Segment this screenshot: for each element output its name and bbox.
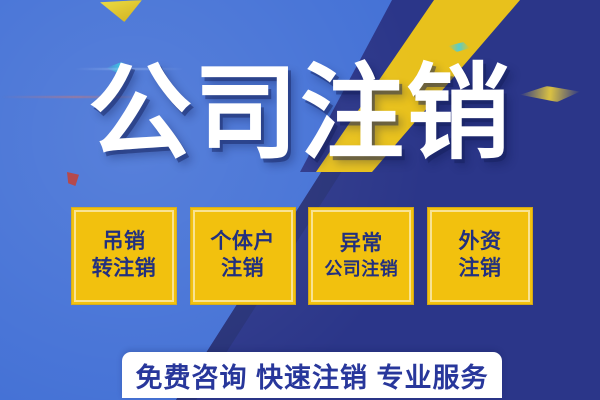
page-title: 公司注销: [0, 62, 600, 166]
promo-poster: 公司注销 吊销 转注销 个体户 注销 异常 公司注销 外资 注销 免费咨询 快速…: [0, 0, 600, 400]
badge-waizi[interactable]: 外资 注销: [428, 208, 532, 304]
badge-yichang-line-1: 异常: [340, 231, 383, 258]
badge-yichang-line-2: 公司注销: [324, 258, 398, 281]
badge-waizi-line-1: 外资: [458, 229, 501, 256]
badge-getihu[interactable]: 个体户 注销: [191, 208, 295, 304]
tagline-text: 免费咨询 快速注销 专业服务: [135, 356, 488, 395]
tagline-bar: 免费咨询 快速注销 专业服务: [122, 352, 502, 398]
badge-getihu-line-2: 注销: [221, 256, 264, 283]
badge-getihu-line-1: 个体户: [210, 229, 275, 256]
badge-diaoxiao[interactable]: 吊销 转注销: [72, 208, 176, 304]
badge-diaoxiao-line-1: 吊销: [103, 229, 146, 256]
badge-waizi-line-2: 注销: [458, 256, 501, 283]
badge-diaoxiao-line-2: 转注销: [92, 256, 157, 283]
badge-yichang[interactable]: 异常 公司注销: [309, 208, 413, 304]
service-badge-row: 吊销 转注销 个体户 注销 异常 公司注销 外资 注销: [72, 208, 532, 304]
